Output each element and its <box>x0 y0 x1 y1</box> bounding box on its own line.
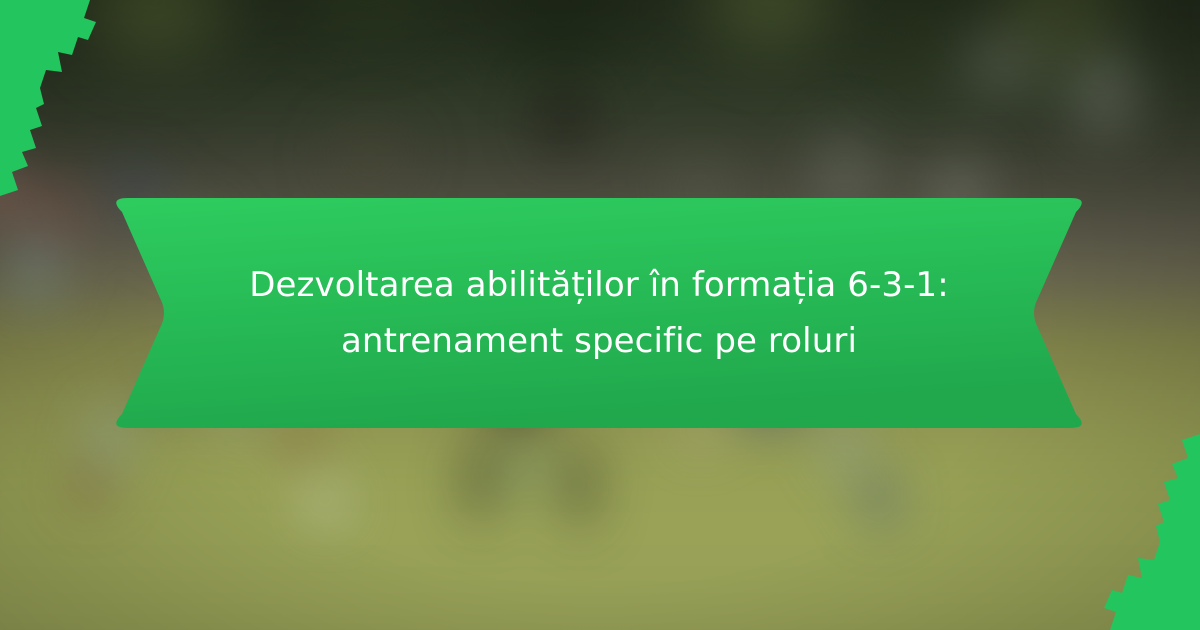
title-line-1: Dezvoltarea abilităților în formația 6-3… <box>249 257 949 313</box>
torn-corner-bottom-right-icon <box>1070 430 1200 630</box>
title-line-2: antrenament specific pe roluri <box>341 313 857 369</box>
banner-title-block: Dezvoltarea abilităților în formația 6-3… <box>108 198 1090 428</box>
torn-corner-top-left-icon <box>0 0 130 200</box>
title-banner: Dezvoltarea abilităților în formația 6-3… <box>108 198 1090 428</box>
social-card: Dezvoltarea abilităților în formația 6-3… <box>0 0 1200 630</box>
